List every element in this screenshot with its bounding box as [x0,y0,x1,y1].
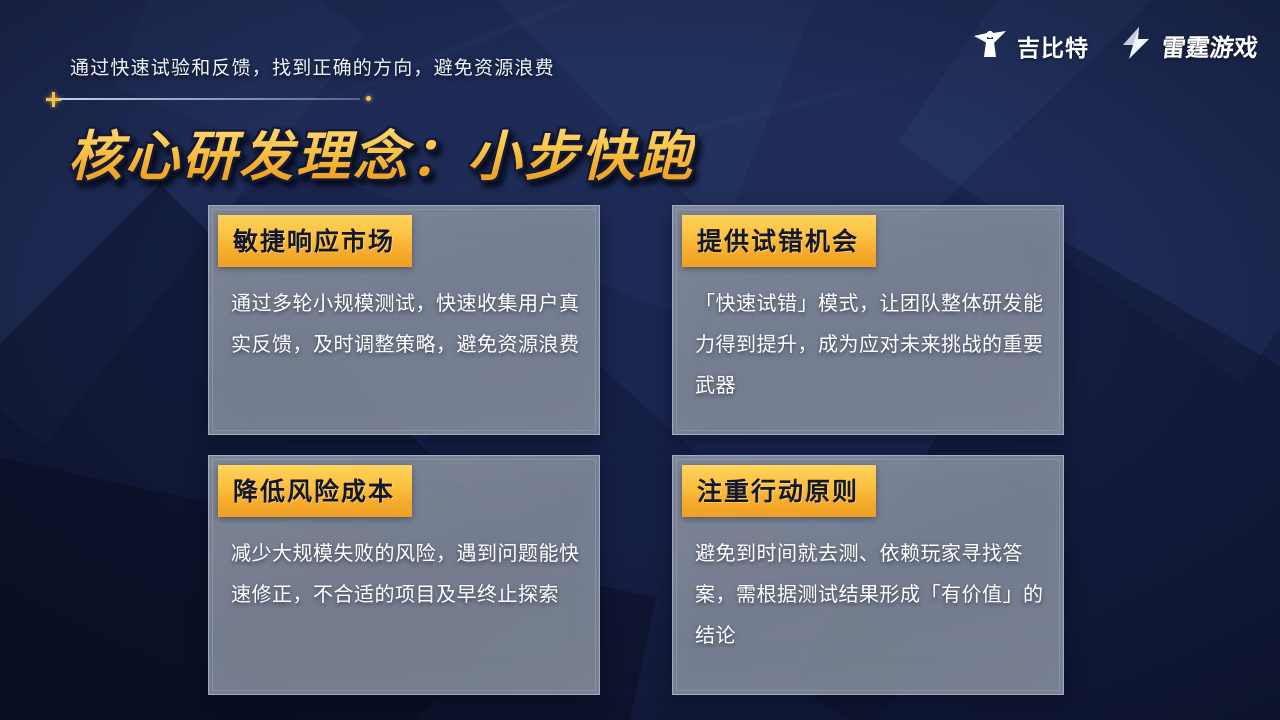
divider-line [60,98,360,100]
lightning-bolt-icon [1119,26,1153,65]
card-title: 敏捷响应市场 [233,228,395,256]
logo-leiting-text: 雷霆游戏 [1160,28,1260,63]
logo-jibite: 吉比特 [972,27,1089,64]
card-reduce-risk-cost: 降低风险成本 减少大规模失败的风险，遇到问题能快速修正，不合适的项目及早终止探索 [208,455,600,695]
logo-leiting: 雷霆游戏 [1119,26,1258,65]
card-badge: 提供试错机会 [682,215,876,267]
angel-logo-icon [972,27,1008,64]
slide-subtitle: 通过快速试验和反馈，找到正确的方向，避免资源浪费 [70,53,555,80]
card-badge: 敏捷响应市场 [218,215,412,267]
card-title: 提供试错机会 [697,228,859,256]
card-body: 避免到时间就去测、依赖玩家寻找答案，需根据测试结果形成「有价值」的结论 [695,534,1045,657]
card-action-principles: 注重行动原则 避免到时间就去测、依赖玩家寻找答案，需根据测试结果形成「有价值」的… [672,455,1064,695]
card-title: 注重行动原则 [697,478,859,506]
logo-jibite-text: 吉比特 [1017,29,1089,63]
card-body: 减少大规模失败的风险，遇到问题能快速修正，不合适的项目及早终止探索 [231,534,581,616]
decorative-divider [46,92,371,106]
plus-marker-icon [46,92,61,107]
slide-title: 核心研发理念：小步快跑 [68,112,695,191]
logo-bar: 吉比特 雷霆游戏 [972,26,1258,65]
card-agile-market-response: 敏捷响应市场 通过多轮小规模测试，快速收集用户真实反馈，及时调整策略，避免资源浪… [208,205,600,435]
card-trial-and-error-opportunity: 提供试错机会 「快速试错」模式，让团队整体研发能力得到提升，成为应对未来挑战的重… [672,205,1064,435]
card-grid: 敏捷响应市场 通过多轮小规模测试，快速收集用户真实反馈，及时调整策略，避免资源浪… [208,205,1064,695]
divider-end-dot-icon [366,96,371,101]
card-body: 通过多轮小规模测试，快速收集用户真实反馈，及时调整策略，避免资源浪费 [231,284,581,366]
card-body: 「快速试错」模式，让团队整体研发能力得到提升，成为应对未来挑战的重要武器 [695,284,1045,407]
slide-root: 吉比特 雷霆游戏 通过快速试验和反馈，找到正确的方向，避免资源浪费 核心研发理念… [0,0,1280,720]
card-badge: 降低风险成本 [218,465,412,517]
card-title: 降低风险成本 [233,478,395,506]
card-badge: 注重行动原则 [682,465,876,517]
